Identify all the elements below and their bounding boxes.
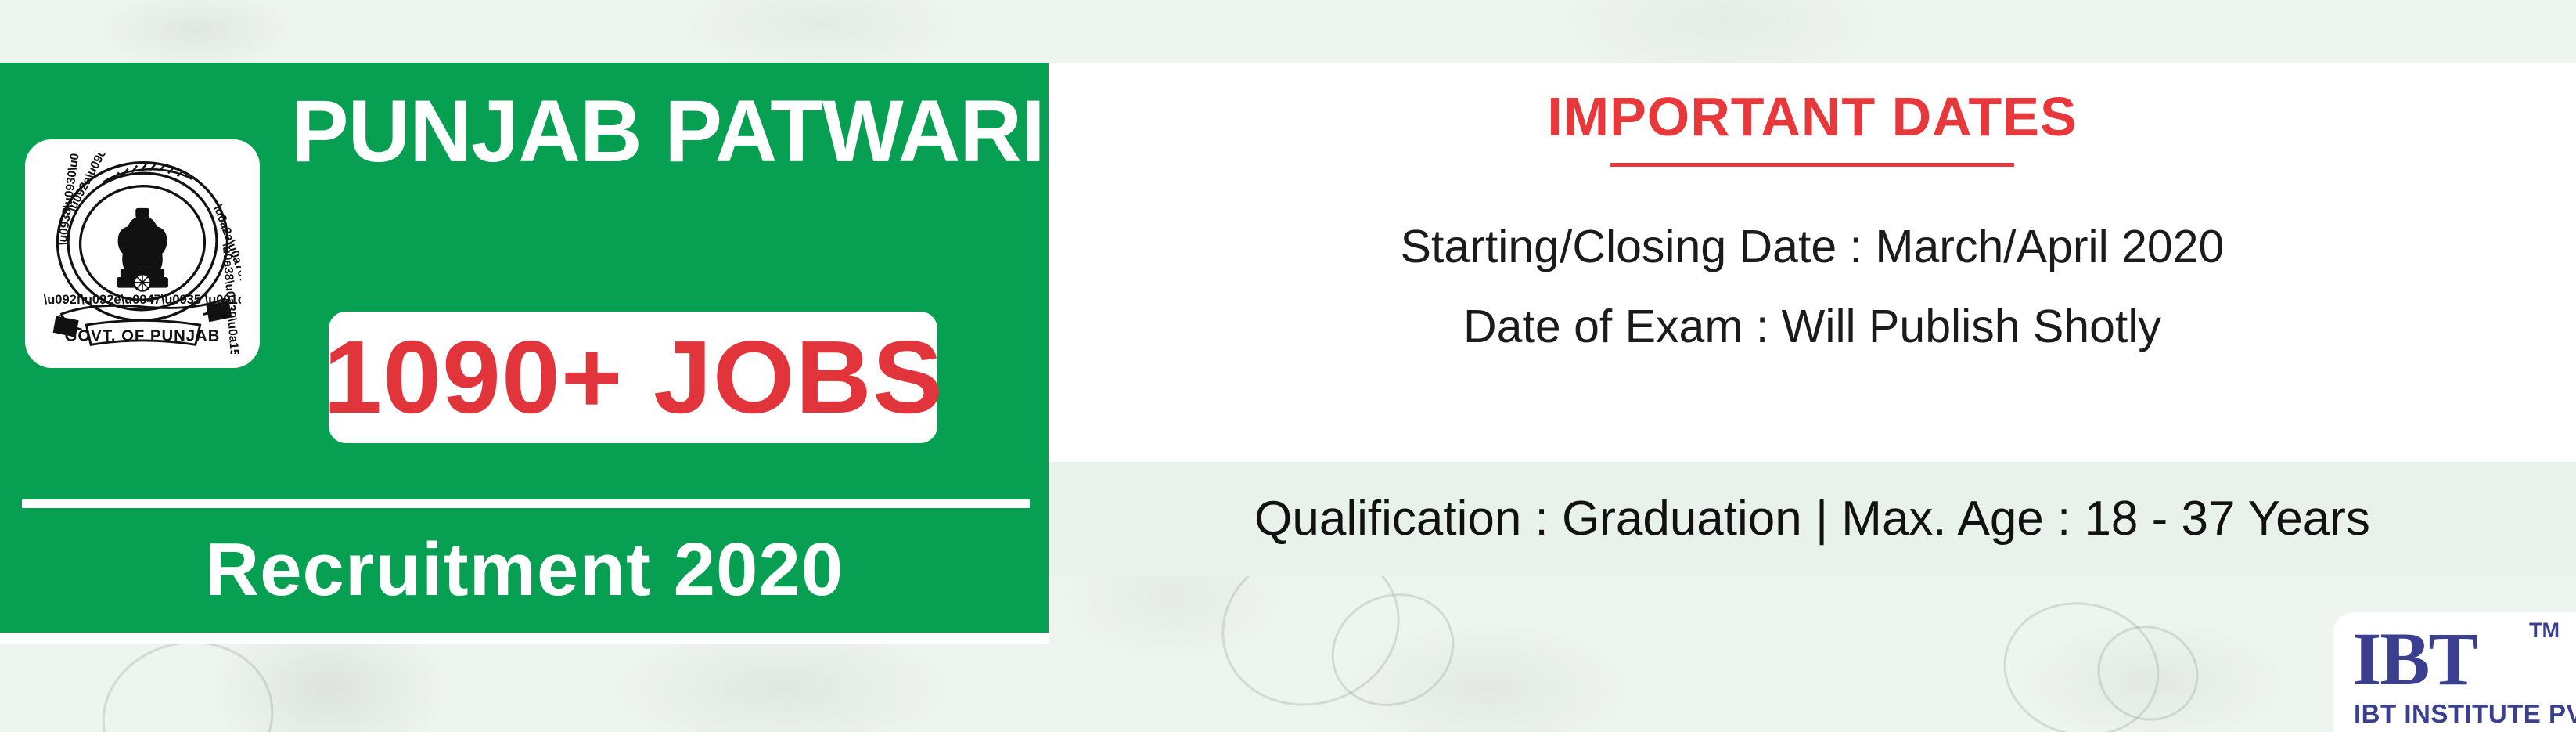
important-dates-panel: IMPORTANT DATES Starting/Closing Date : … [1049,63,2576,462]
important-dates-underline [1610,163,2014,167]
svg-text:GOVT. OF PUNJAB: GOVT. OF PUNJAB [65,327,221,344]
important-dates-title: IMPORTANT DATES [1049,86,2576,147]
jobs-badge: 1090+ JOBS [329,312,937,443]
recruitment-subtitle: Recruitment 2020 [0,529,1049,611]
qualification-band: Qualification : Graduation | Max. Age : … [1049,462,2576,576]
emblem-card: \u092a\u0902\u091c\u093e\u092c \u0938\u0… [25,139,260,368]
jobs-badge-label: 1090+ JOBS [323,326,943,429]
qualification-age-text: Qualification : Graduation | Max. Age : … [1254,490,2370,548]
watermark-swirl-2 [1313,574,1473,727]
ibt-wordmark: IBT [2352,618,2477,700]
watermark-swirl-3 [1991,588,2172,732]
panel-bottom-hairline [0,633,1049,644]
punjab-government-emblem-icon: \u092a\u0902\u091c\u093e\u092c \u0938\u0… [44,153,241,354]
white-divider [22,499,1030,508]
trademark-icon: TM [2529,620,2560,641]
exam-date-line: Date of Exam : Will Publish Shotly [1049,299,2576,354]
page-title: PUNJAB PATWARI [291,85,1031,178]
starting-closing-date-line: Starting/Closing Date : March/April 2020 [1049,219,2576,274]
left-green-panel: \u092a\u0902\u091c\u093e\u092c \u0938\u0… [0,63,1049,633]
ibt-logo: IBT TM IBT INSTITUTE PVT. LTD [2333,612,2576,732]
watermark-swirl-4 [2084,611,2211,732]
ibt-logo-subtitle: IBT INSTITUTE PVT. LTD [2354,700,2576,728]
